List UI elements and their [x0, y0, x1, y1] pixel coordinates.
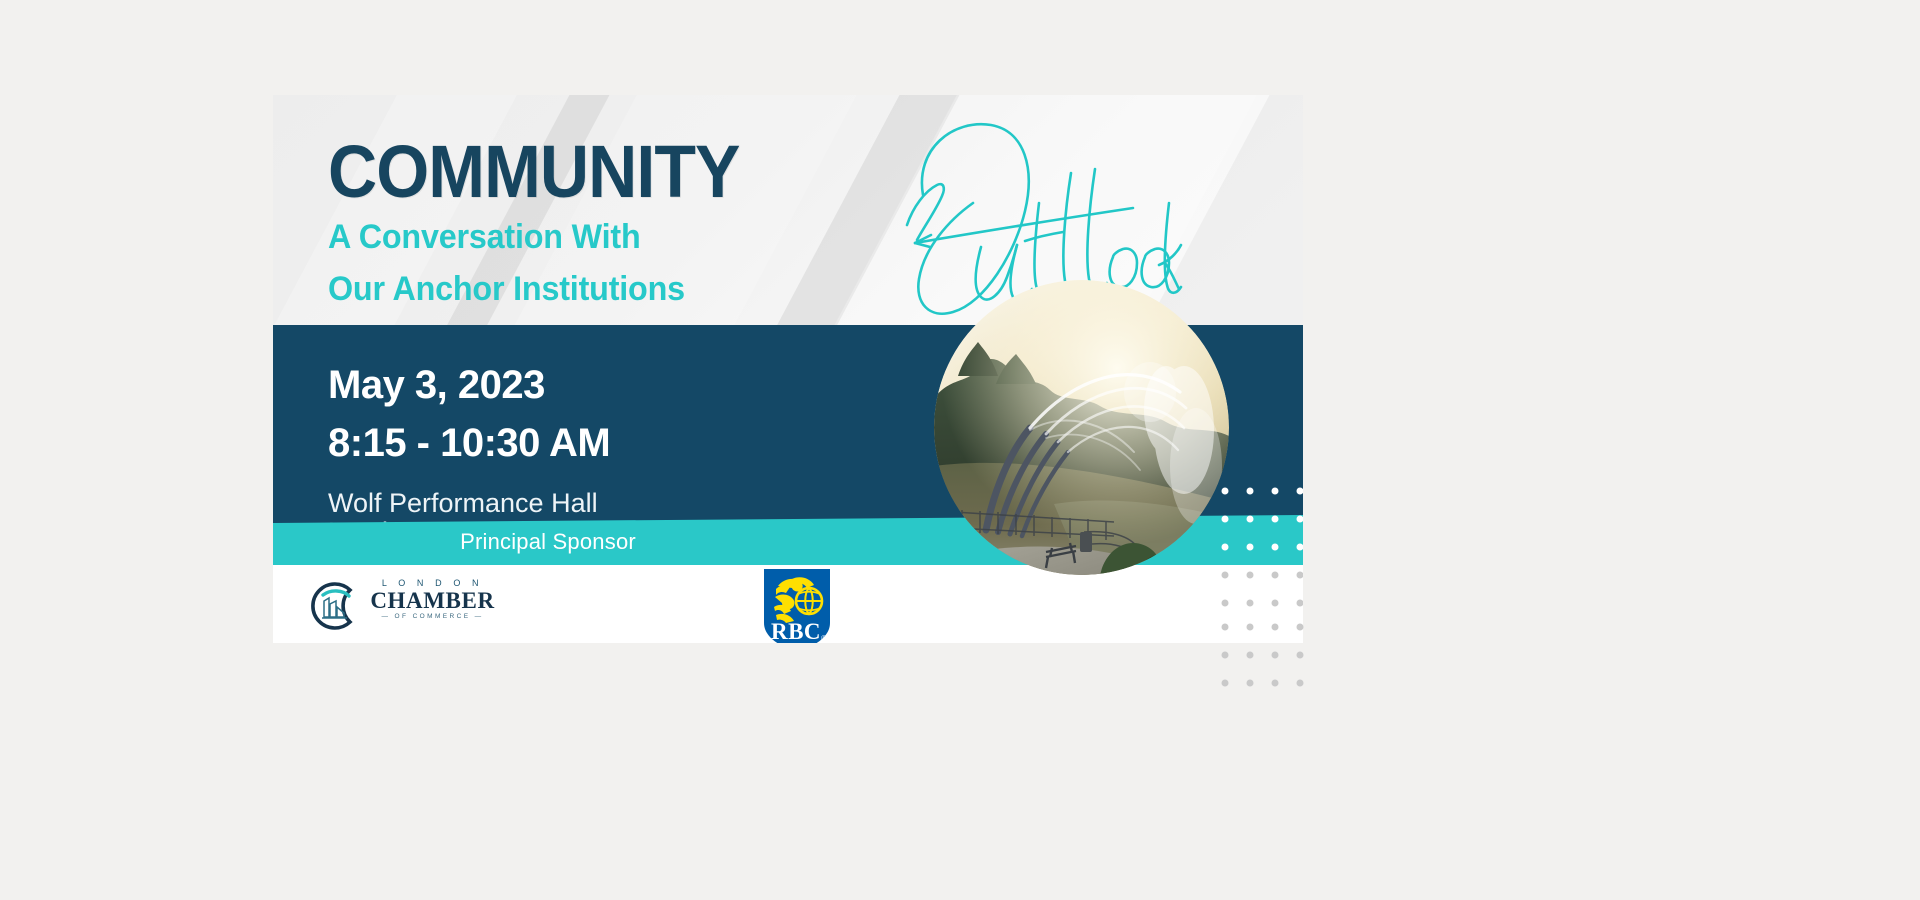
event-time: 8:15 - 10:30 AM	[328, 423, 610, 463]
principal-sponsor-text: Principal Sponsor	[460, 529, 636, 554]
chamber-wordmark: L O N D O N CHAMBER — OF COMMERCE —	[365, 579, 500, 620]
rbc-logo: RBC ®	[762, 567, 832, 643]
page-canvas: COMMUNITY A Conversation With Our Anchor…	[0, 0, 1920, 900]
chamber-london-text: L O N D O N	[365, 579, 500, 588]
event-banner: COMMUNITY A Conversation With Our Anchor…	[273, 95, 1303, 643]
chamber-chamber-text: CHAMBER	[365, 588, 500, 614]
london-chamber-logo: L O N D O N CHAMBER — OF COMMERCE —	[303, 573, 503, 637]
rbc-wordmark-text: RBC	[771, 619, 821, 643]
chamber-emblem-icon	[303, 577, 361, 635]
fountain-photo	[934, 280, 1229, 575]
banner-subtitle-line-2: Our Anchor Institutions	[328, 272, 685, 306]
dot-grid-pattern-dark	[1219, 483, 1303, 613]
chamber-commerce-text: — OF COMMERCE —	[365, 614, 500, 621]
event-date: May 3, 2023	[328, 365, 545, 405]
banner-title: COMMUNITY	[328, 135, 740, 209]
banner-subtitle-line-1: A Conversation With	[328, 220, 641, 254]
banner-clip: COMMUNITY A Conversation With Our Anchor…	[273, 95, 1303, 643]
event-venue-name: Wolf Performance Hall	[328, 488, 598, 518]
dot-grid-pattern-light	[1219, 617, 1305, 703]
rbc-trademark-icon: ®	[821, 634, 827, 643]
